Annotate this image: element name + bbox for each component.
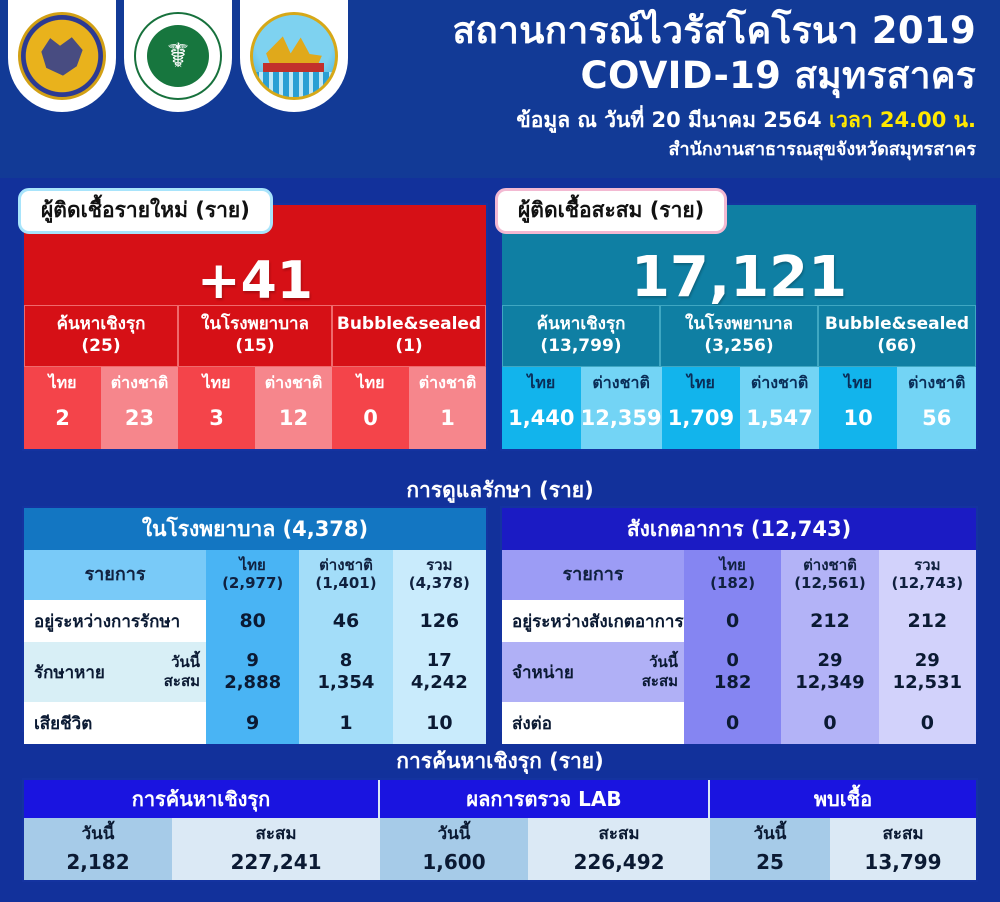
cell-value: 226,492 — [573, 849, 664, 875]
new-cases-badge: ผู้ติดเชื้อรายใหม่ (ราย) — [18, 188, 273, 234]
row-value-thai: 0 — [684, 702, 781, 744]
value-stack: 0 182 — [714, 650, 752, 695]
nationality-value: 23 — [125, 406, 154, 430]
row-value-total: 126 — [393, 600, 486, 642]
logo-group: ☤ — [8, 0, 348, 112]
row-label-group: รักษาหาย วันนี้ สะสม — [24, 642, 206, 702]
nationality-label: ต่างชาติ — [419, 373, 476, 392]
cell-label: สะสม — [255, 823, 296, 845]
nationality-value: 10 — [844, 406, 873, 430]
cumulative-cases-nationality-row: ไทย 1,440 ต่างชาติ 12,359 ไทย 1,709 ต่าง… — [502, 367, 976, 449]
row-value-foreign: 0 — [781, 702, 878, 744]
column-label: ไทย — [240, 557, 266, 575]
value-cumulative: 12,349 — [795, 672, 864, 695]
page-title-line2: COVID-19 สมุทรสาคร — [453, 53, 976, 98]
active-section-title: การค้นหาเชิงรุก (ราย) — [0, 745, 1000, 778]
row-label: ส่งต่อ — [502, 702, 684, 744]
cumulative-category-bubble-sealed: Bubble&sealed (66) — [818, 305, 976, 367]
nationality-value: 3 — [209, 406, 224, 430]
new-cases-category-proactive: ค้นหาเชิงรุก (25) — [24, 305, 178, 367]
column-sub: (2,977) — [222, 575, 283, 593]
column-label: รายการ — [563, 564, 624, 585]
nationality-value: 56 — [922, 406, 951, 430]
nationality-label: ไทย — [527, 373, 555, 392]
value-today: 17 — [427, 650, 452, 673]
new-cases-category-bubble-sealed: Bubble&sealed (1) — [332, 305, 486, 367]
table-row: จำหน่าย วันนี้ สะสม 0 182 29 12,349 — [502, 642, 976, 702]
active-header-positive: พบเชื้อ — [710, 780, 976, 818]
cell-value: 25 — [756, 849, 784, 875]
column-sub: (182) — [710, 575, 755, 593]
row-value-thai: 80 — [206, 600, 299, 642]
value-cumulative: 12,531 — [893, 672, 962, 695]
value-stack: 29 12,531 — [893, 650, 962, 695]
row-label: เสียชีวิต — [24, 702, 206, 744]
value-cumulative: 2,888 — [224, 672, 281, 695]
cumulative-cases-category-row: ค้นหาเชิงรุก (13,799) ในโรงพยาบาล (3,256… — [502, 305, 976, 367]
value-stack: 29 12,349 — [795, 650, 864, 695]
category-count: (15) — [235, 336, 274, 358]
cell-value: 2,182 — [66, 849, 129, 875]
cell-label: สะสม — [598, 823, 639, 845]
table-row: อยู่ระหว่างสังเกตอาการ 0 212 212 — [502, 600, 976, 642]
column-sub: (12,743) — [892, 575, 964, 593]
as-of-time-text: เวลา 24.00 น. — [829, 108, 976, 132]
cell-value: 13,799 — [864, 849, 941, 875]
category-label: ค้นหาเชิงรุก — [537, 314, 626, 336]
new-cases-nationality-row: ไทย 2 ต่างชาติ 23 ไทย 3 ต่างชาติ 12 ไทย … — [24, 367, 486, 449]
new-cases-category-hospital: ในโรงพยาบาล (15) — [178, 305, 332, 367]
category-count: (3,256) — [704, 336, 773, 358]
active-lab-today: วันนี้ 1,600 — [380, 818, 528, 880]
samut-sakhon-province-seal-icon — [250, 12, 338, 100]
row-subtags: วันนี้ สะสม — [164, 642, 200, 702]
category-label: ในโรงพยาบาล — [685, 314, 793, 336]
observation-table-column-headers: รายการ ไทย (182) ต่างชาติ (12,561) รวม (… — [502, 550, 976, 600]
cell-label: วันนี้ — [754, 823, 787, 845]
active-header-proactive: การค้นหาเชิงรุก — [24, 780, 380, 818]
new-cases-hospital-thai: ไทย 3 — [178, 367, 255, 449]
row-value-total: 17 4,242 — [393, 642, 486, 702]
row-value-foreign: 46 — [299, 600, 392, 642]
row-label: อยู่ระหว่างสังเกตอาการ — [502, 600, 684, 642]
row-value-foreign: 1 — [299, 702, 392, 744]
column-sub: (1,401) — [315, 575, 376, 593]
page-title-line1: สถานการณ์ไวรัสโคโรนา 2019 — [453, 8, 976, 53]
cumulative-bubble-foreign: ต่างชาติ 56 — [897, 367, 976, 449]
active-lab-cumulative: สะสม 226,492 — [528, 818, 710, 880]
issuing-office: สำนักงานสาธารณสุขจังหวัดสมุทรสาคร — [453, 138, 976, 161]
care-section-title: การดูแลรักษา (ราย) — [0, 474, 1000, 507]
active-table-values: วันนี้ 2,182 สะสม 227,241 วันนี้ 1,600 ส… — [24, 818, 976, 880]
cell-value: 1,600 — [422, 849, 485, 875]
garuda-logo-plaque — [8, 0, 116, 112]
cell-value: 227,241 — [230, 849, 321, 875]
nationality-value: 1,547 — [746, 406, 812, 430]
new-cases-total: +41 — [24, 251, 486, 311]
column-label: รายการ — [85, 564, 146, 585]
value-today: 0 — [726, 650, 739, 673]
value-cumulative: 4,242 — [411, 672, 468, 695]
active-proactive-cumulative: สะสม 227,241 — [172, 818, 380, 880]
category-label: Bubble&sealed — [337, 314, 481, 336]
nationality-label: ต่างชาติ — [111, 373, 168, 392]
ministry-of-public-health-seal-icon: ☤ — [134, 12, 222, 100]
active-proactive-today: วันนี้ 2,182 — [24, 818, 172, 880]
table-row: เสียชีวิต 9 1 10 — [24, 702, 486, 744]
nationality-value: 12,359 — [581, 406, 662, 430]
column-header-item: รายการ — [502, 550, 684, 600]
value-cumulative: 1,354 — [318, 672, 375, 695]
column-header-foreign: ต่างชาติ (1,401) — [299, 550, 392, 600]
row-label: จำหน่าย — [512, 659, 574, 686]
cumulative-hospital-thai: ไทย 1,709 — [662, 367, 741, 449]
nationality-label: ไทย — [687, 373, 715, 392]
cell-label: วันนี้ — [438, 823, 471, 845]
garuda-seal-icon — [18, 12, 106, 100]
row-value-total: 0 — [879, 702, 976, 744]
row-subtags: วันนี้ สะสม — [642, 642, 678, 702]
subtag-cumulative: สะสม — [164, 672, 200, 691]
column-label: ต่างชาติ — [319, 557, 373, 575]
column-header-thai: ไทย (182) — [684, 550, 781, 600]
cumulative-bubble-thai: ไทย 10 — [819, 367, 898, 449]
junk-boat-sail-shape — [266, 36, 322, 66]
observation-table: สังเกตอาการ (12,743) รายการ ไทย (182) ต่… — [500, 506, 978, 732]
row-value-total: 212 — [879, 600, 976, 642]
active-header-lab-results: ผลการตรวจ LAB — [380, 780, 710, 818]
row-value-total: 10 — [393, 702, 486, 744]
value-today: 29 — [817, 650, 842, 673]
active-case-finding-table: การค้นหาเชิงรุก ผลการตรวจ LAB พบเชื้อ วั… — [22, 778, 978, 882]
caduceus-icon: ☤ — [147, 25, 209, 87]
category-count: (66) — [877, 336, 916, 358]
row-value-thai: 9 2,888 — [206, 642, 299, 702]
new-cases-bubble-thai: ไทย 0 — [332, 367, 409, 449]
category-label: ในโรงพยาบาล — [201, 314, 309, 336]
row-label: อยู่ระหว่างการรักษา — [24, 600, 206, 642]
column-header-total: รวม (4,378) — [393, 550, 486, 600]
nationality-label: ไทย — [844, 373, 872, 392]
row-label: รักษาหาย — [34, 659, 105, 686]
value-today: 9 — [246, 650, 259, 673]
table-row: รักษาหาย วันนี้ สะสม 9 2,888 8 1,354 — [24, 642, 486, 702]
active-positive-cumulative: สะสม 13,799 — [830, 818, 976, 880]
value-stack: 17 4,242 — [411, 650, 468, 695]
cumulative-hospital-foreign: ต่างชาติ 1,547 — [740, 367, 819, 449]
cell-label: สะสม — [882, 823, 923, 845]
nationality-value: 1 — [440, 406, 455, 430]
new-cases-panel: +41 ค้นหาเชิงรุก (25) ในโรงพยาบาล (15) B… — [22, 203, 488, 451]
column-header-foreign: ต่างชาติ (12,561) — [781, 550, 878, 600]
header-title-block: สถานการณ์ไวรัสโคโรนา 2019 COVID-19 สมุทร… — [453, 8, 976, 161]
cumulative-category-hospital: ในโรงพยาบาล (3,256) — [660, 305, 818, 367]
subtag-cumulative: สะสม — [642, 672, 678, 691]
cumulative-cases-total: 17,121 — [502, 245, 976, 310]
column-header-total: รวม (12,743) — [879, 550, 976, 600]
nationality-label: ต่างชาติ — [265, 373, 322, 392]
value-today: 29 — [915, 650, 940, 673]
subtag-today: วันนี้ — [171, 653, 200, 672]
nationality-label: ต่างชาติ — [751, 373, 808, 392]
hospital-table-title: ในโรงพยาบาล (4,378) — [24, 508, 486, 550]
value-cumulative: 182 — [714, 672, 752, 695]
category-count: (13,799) — [540, 336, 621, 358]
observation-table-title: สังเกตอาการ (12,743) — [502, 508, 976, 550]
nationality-label: ไทย — [203, 373, 231, 392]
active-positive-today: วันนี้ 25 — [710, 818, 830, 880]
cumulative-cases-badge: ผู้ติดเชื้อสะสม (ราย) — [495, 188, 727, 234]
new-cases-category-row: ค้นหาเชิงรุก (25) ในโรงพยาบาล (15) Bubbl… — [24, 305, 486, 367]
row-value-total: 29 12,531 — [879, 642, 976, 702]
column-label: รวม — [914, 557, 940, 575]
row-value-foreign: 29 12,349 — [781, 642, 878, 702]
nationality-label: ต่างชาติ — [592, 373, 649, 392]
column-header-thai: ไทย (2,977) — [206, 550, 299, 600]
value-stack: 8 1,354 — [318, 650, 375, 695]
cell-label: วันนี้ — [82, 823, 115, 845]
nationality-value: 0 — [363, 406, 378, 430]
column-label: รวม — [426, 557, 452, 575]
nationality-value: 12 — [279, 406, 308, 430]
category-count: (1) — [395, 336, 422, 358]
new-cases-bubble-foreign: ต่างชาติ 1 — [409, 367, 486, 449]
nationality-value: 2 — [55, 406, 70, 430]
column-sub: (12,561) — [794, 575, 866, 593]
nationality-label: ไทย — [357, 373, 385, 392]
column-sub: (4,378) — [409, 575, 470, 593]
moph-logo-plaque: ☤ — [124, 0, 232, 112]
cumulative-cases-panel: 17,121 ค้นหาเชิงรุก (13,799) ในโรงพยาบาล… — [500, 203, 978, 451]
province-logo-plaque — [240, 0, 348, 112]
page-header: ☤ สถานการณ์ไวรัสโคโรนา 2019 COVID-19 สมุ… — [0, 0, 1000, 178]
category-label: ค้นหาเชิงรุก — [57, 314, 146, 336]
row-value-foreign: 212 — [781, 600, 878, 642]
hospital-care-table: ในโรงพยาบาล (4,378) รายการ ไทย (2,977) ต… — [22, 506, 488, 732]
active-table-headers: การค้นหาเชิงรุก ผลการตรวจ LAB พบเชื้อ — [24, 780, 976, 818]
waves-shape — [253, 72, 335, 97]
row-value-thai: 0 182 — [684, 642, 781, 702]
value-today: 8 — [340, 650, 353, 673]
as-of-date: ข้อมูล ณ วันที่ 20 มีนาคม 2564 เวลา 24.0… — [453, 107, 976, 134]
column-label: ไทย — [720, 557, 746, 575]
as-of-date-text: ข้อมูล ณ วันที่ 20 มีนาคม 2564 — [516, 108, 829, 132]
category-label: Bubble&sealed — [825, 314, 969, 336]
cumulative-proactive-foreign: ต่างชาติ 12,359 — [581, 367, 662, 449]
table-row: ส่งต่อ 0 0 0 — [502, 702, 976, 744]
new-cases-proactive-thai: ไทย 2 — [24, 367, 101, 449]
subtag-today: วันนี้ — [649, 653, 678, 672]
hospital-table-column-headers: รายการ ไทย (2,977) ต่างชาติ (1,401) รวม … — [24, 550, 486, 600]
nationality-label: ไทย — [49, 373, 77, 392]
column-label: ต่างชาติ — [803, 557, 857, 575]
column-header-item: รายการ — [24, 550, 206, 600]
category-count: (25) — [81, 336, 120, 358]
new-cases-hospital-foreign: ต่างชาติ 12 — [255, 367, 332, 449]
value-stack: 9 2,888 — [224, 650, 281, 695]
table-row: อยู่ระหว่างการรักษา 80 46 126 — [24, 600, 486, 642]
new-cases-proactive-foreign: ต่างชาติ 23 — [101, 367, 178, 449]
row-value-thai: 0 — [684, 600, 781, 642]
dashboard-page: ☤ สถานการณ์ไวรัสโคโรนา 2019 COVID-19 สมุ… — [0, 0, 1000, 902]
nationality-value: 1,709 — [668, 406, 734, 430]
row-value-thai: 9 — [206, 702, 299, 744]
cumulative-category-proactive: ค้นหาเชิงรุก (13,799) — [502, 305, 660, 367]
row-value-foreign: 8 1,354 — [299, 642, 392, 702]
nationality-value: 1,440 — [508, 406, 574, 430]
cumulative-proactive-thai: ไทย 1,440 — [502, 367, 581, 449]
row-label-group: จำหน่าย วันนี้ สะสม — [502, 642, 684, 702]
nationality-label: ต่างชาติ — [908, 373, 965, 392]
